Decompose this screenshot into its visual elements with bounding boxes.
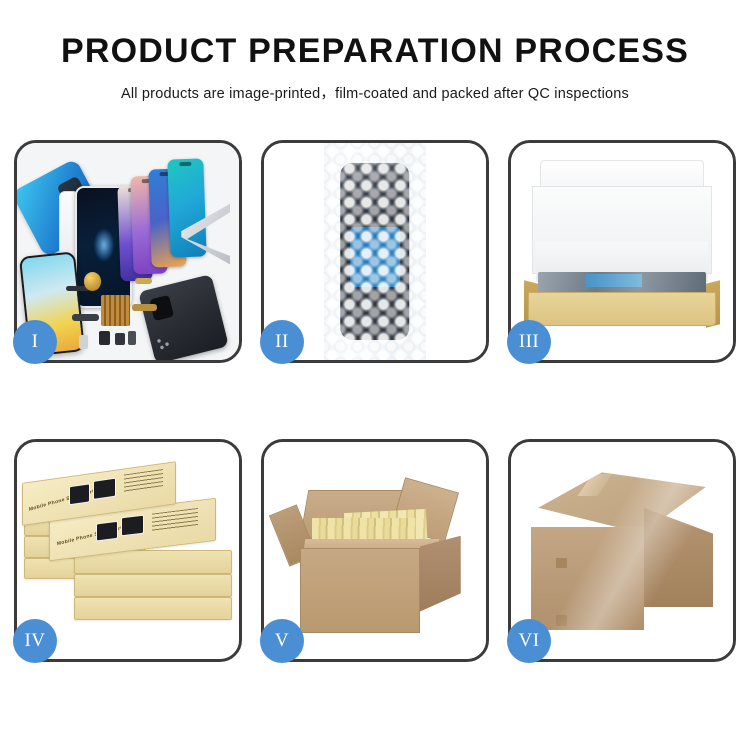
part-chip-icon: [115, 333, 125, 345]
carton-front-face: [300, 548, 419, 633]
part-screws-icon: [155, 337, 175, 351]
process-steps-grid: I II: [14, 140, 736, 685]
spare-parts-group: [66, 269, 177, 356]
carton-front-face: [531, 527, 644, 630]
box-spec-lines: [123, 469, 163, 493]
step-panel-4: Mobile Phone Spare Parts Mobile Phone Sp…: [14, 439, 242, 662]
notch-icon: [180, 161, 192, 165]
step-badge-3: III: [507, 320, 551, 364]
bubble-texture-icon: [324, 143, 426, 360]
box-spec-lines: [152, 507, 198, 531]
step-badge-2: II: [260, 320, 304, 364]
bubble-wrap-sleeve: [324, 143, 426, 360]
step-badge-1: I: [13, 320, 57, 364]
step-badge-5: V: [260, 619, 304, 663]
phone-fan-group: [119, 156, 239, 282]
carton-tape-strip: [578, 474, 613, 496]
step-badge-4: IV: [13, 619, 57, 663]
part-connector-grid-icon: [101, 295, 130, 326]
product-preparation-page: PRODUCT PREPARATION PROCESS All products…: [0, 0, 750, 750]
page-header: PRODUCT PREPARATION PROCESS All products…: [0, 0, 750, 103]
stacked-box: [74, 597, 233, 620]
part-flex-cable-icon: [72, 314, 99, 321]
carton-side-face: [420, 536, 461, 612]
box-stack-group: Mobile Phone Spare Parts Mobile Phone Sp…: [24, 462, 233, 640]
carton-hand-hole: [556, 558, 567, 568]
page-subtitle: All products are image-printed，film-coat…: [0, 82, 750, 103]
part-chip-icon: [128, 331, 136, 345]
carton-hand-hole: [556, 615, 567, 625]
part-flex-cable-icon: [135, 278, 153, 284]
box-art-screen: [68, 483, 89, 505]
open-carton-icon: [282, 481, 468, 633]
page-title: PRODUCT PREPARATION PROCESS: [0, 34, 750, 68]
box-art-screen: [96, 520, 117, 541]
step-panel-5: V: [261, 439, 489, 662]
step-panel-2: II: [261, 140, 489, 363]
open-mailer-box-icon: [524, 160, 719, 329]
stacked-box: [74, 574, 233, 597]
part-gold-disc-icon: [84, 272, 102, 291]
carton-side-face: [644, 508, 713, 608]
part-chip-icon: [99, 331, 110, 345]
phone-icon-1: [168, 158, 207, 257]
part-sim-tray-icon: [79, 335, 88, 349]
step-panel-6: VI: [508, 439, 736, 662]
box-art-screen: [121, 515, 144, 537]
step-panel-1: I: [14, 140, 242, 363]
step-badge-6: VI: [507, 619, 551, 663]
sealed-carton-icon: [531, 472, 713, 633]
mailer-front-wall: [528, 292, 716, 326]
step-panel-3: III: [508, 140, 736, 363]
part-flex-cable-icon: [132, 304, 156, 311]
box-art-screen: [93, 477, 116, 500]
